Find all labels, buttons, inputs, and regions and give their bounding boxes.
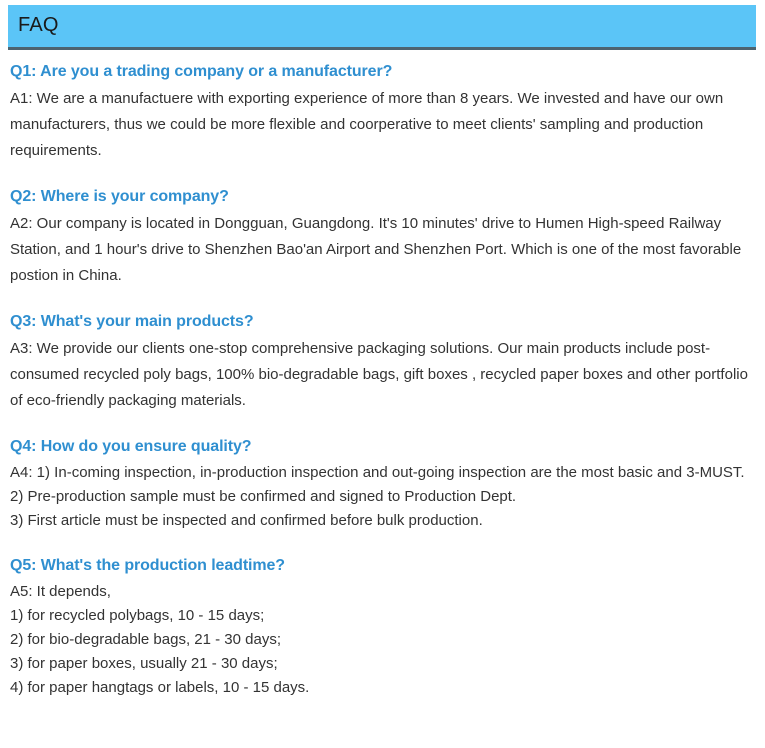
faq-answer-line: 2) for bio-degradable bags, 21 - 30 days… xyxy=(10,628,752,652)
faq-answer-line: 4) for paper hangtags or labels, 10 - 15… xyxy=(10,676,752,700)
faq-answer-1: A1: We are a manufactuere with exporting… xyxy=(10,86,752,164)
faq-answer-2: A2: Our company is located in Dongguan, … xyxy=(10,211,752,289)
faq-banner: FAQ xyxy=(8,5,756,50)
faq-question-2: Q2: Where is your company? xyxy=(10,185,752,209)
faq-list: Q1: Are you a trading company or a manuf… xyxy=(10,60,752,700)
faq-banner-title: FAQ xyxy=(18,13,59,37)
faq-item-1: Q1: Are you a trading company or a manuf… xyxy=(10,60,752,164)
faq-answer-3: A3: We provide our clients one-stop comp… xyxy=(10,336,752,414)
faq-answer-4: A4: 1) In-coming inspection, in-producti… xyxy=(10,461,752,533)
faq-answer-line: 2) Pre-production sample must be confirm… xyxy=(10,485,752,509)
faq-item-4: Q4: How do you ensure quality? A4: 1) In… xyxy=(10,435,752,533)
faq-question-4: Q4: How do you ensure quality? xyxy=(10,435,752,459)
faq-page: FAQ Q1: Are you a trading company or a m… xyxy=(0,0,765,748)
faq-question-5: Q5: What's the production leadtime? xyxy=(10,554,752,578)
faq-answer-line: 1) for recycled polybags, 10 - 15 days; xyxy=(10,604,752,628)
faq-question-3: Q3: What's your main products? xyxy=(10,310,752,334)
faq-answer-line: 3) for paper boxes, usually 21 - 30 days… xyxy=(10,652,752,676)
faq-item-2: Q2: Where is your company? A2: Our compa… xyxy=(10,185,752,289)
faq-answer-line: A5: It depends, xyxy=(10,580,752,604)
faq-answer-line: 3) First article must be inspected and c… xyxy=(10,509,752,533)
faq-item-3: Q3: What's your main products? A3: We pr… xyxy=(10,310,752,414)
faq-question-1: Q1: Are you a trading company or a manuf… xyxy=(10,60,752,84)
faq-answer-line: A4: 1) In-coming inspection, in-producti… xyxy=(10,461,752,485)
faq-item-5: Q5: What's the production leadtime? A5: … xyxy=(10,554,752,700)
faq-answer-5: A5: It depends, 1) for recycled polybags… xyxy=(10,580,752,700)
